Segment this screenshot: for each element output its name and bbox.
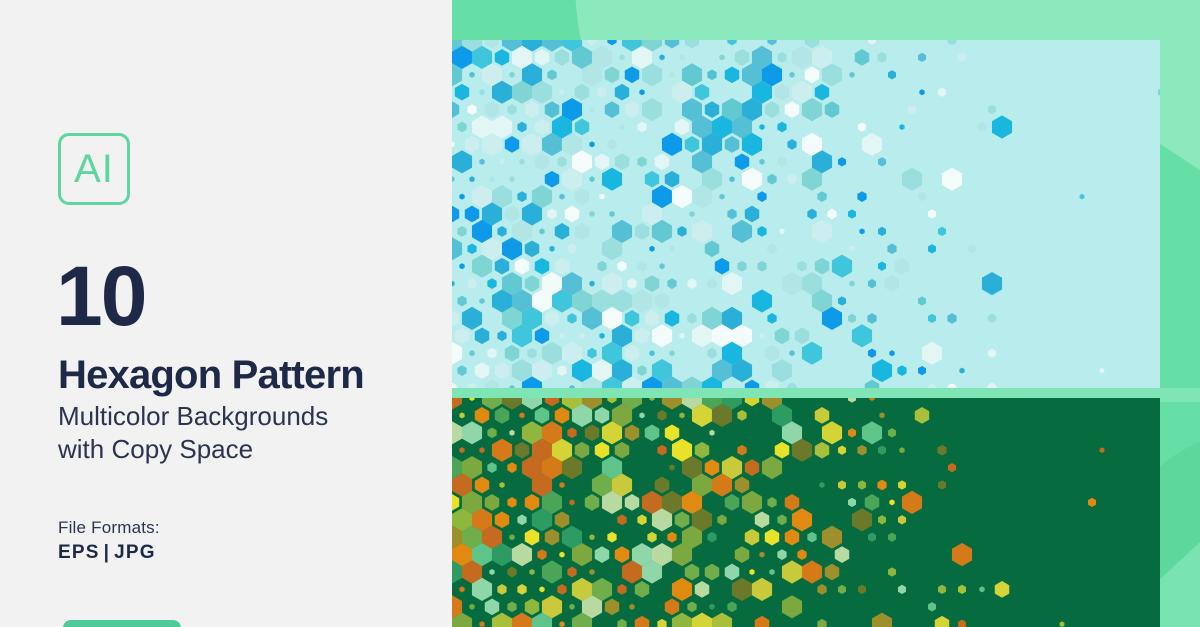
page-title: Hexagon Pattern [58,355,364,395]
hexagon-pattern-blue-svg [452,40,1160,392]
page-subtitle-line-2: with Copy Space [58,434,253,464]
page-subtitle-line-1: Multicolor Backgrounds [58,401,328,431]
item-count: 10 [56,254,145,338]
preview-canvas: AI 10 Hexagon Pattern Multicolor Backgro… [0,0,1200,627]
file-formats-label: File Formats: [58,518,160,538]
hexagon-pattern-green-svg [452,398,1160,627]
file-format-separator: | [100,542,115,563]
hexagon-preview-blue[interactable] [452,40,1160,392]
info-column: AI 10 Hexagon Pattern Multicolor Backgro… [0,0,452,627]
cta-button[interactable] [63,620,181,627]
file-format-eps: EPS [58,542,100,563]
adobe-illustrator-badge-label: AI [74,149,114,189]
file-formats-value: EPS|JPG [58,542,156,564]
hexagon-preview-green[interactable] [452,398,1160,627]
adobe-illustrator-badge: AI [58,133,130,205]
file-format-jpg: JPG [114,542,156,563]
page-subtitle: Multicolor Backgrounds with Copy Space [58,400,438,465]
